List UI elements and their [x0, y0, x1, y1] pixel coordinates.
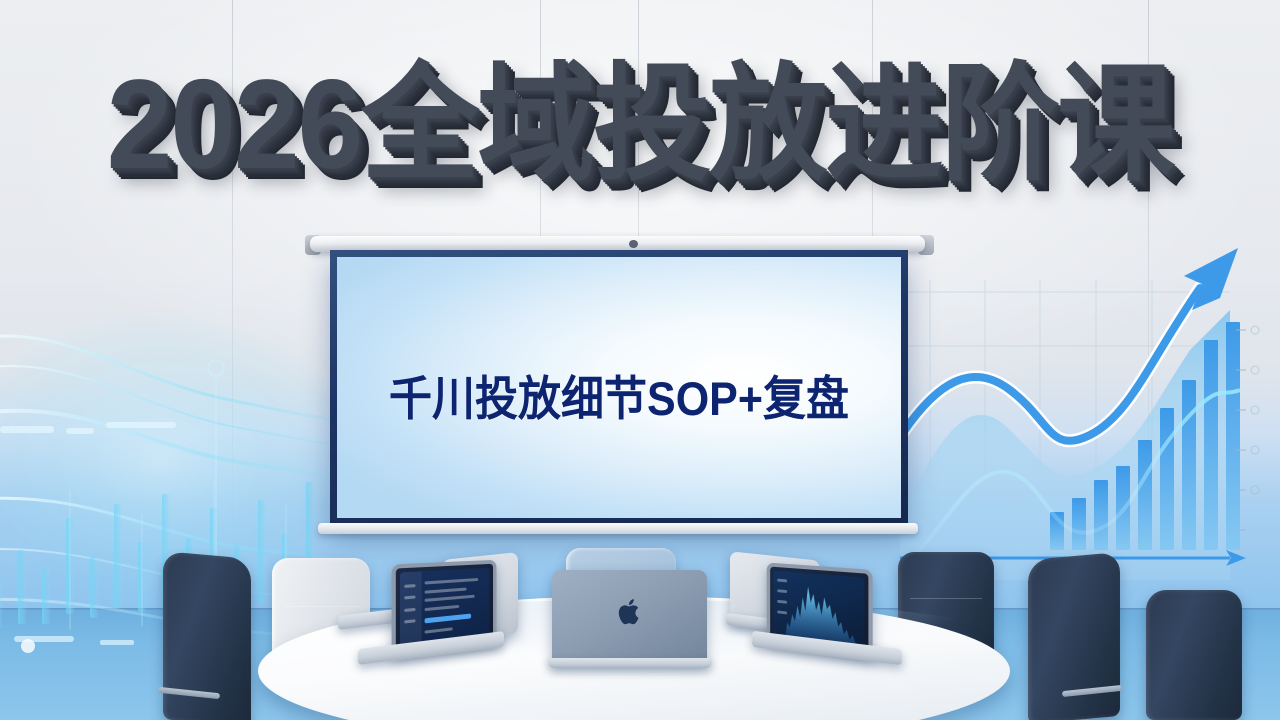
poster-canvas: 2026全域投放进阶课 千川投放细节SOP+复盘	[0, 0, 1280, 720]
roller-center-knob	[629, 240, 638, 248]
screen-headline: 千川投放细节SOP+复盘	[389, 360, 849, 428]
projector-screen-weight-bar	[318, 523, 918, 534]
projector-screen-surface: 千川投放细节SOP+复盘	[337, 257, 901, 518]
poster-headline: 2026全域投放进阶课	[0, 61, 1280, 188]
apple-logo-icon	[617, 597, 643, 627]
projector-screen: 千川投放细节SOP+复盘	[330, 250, 908, 525]
